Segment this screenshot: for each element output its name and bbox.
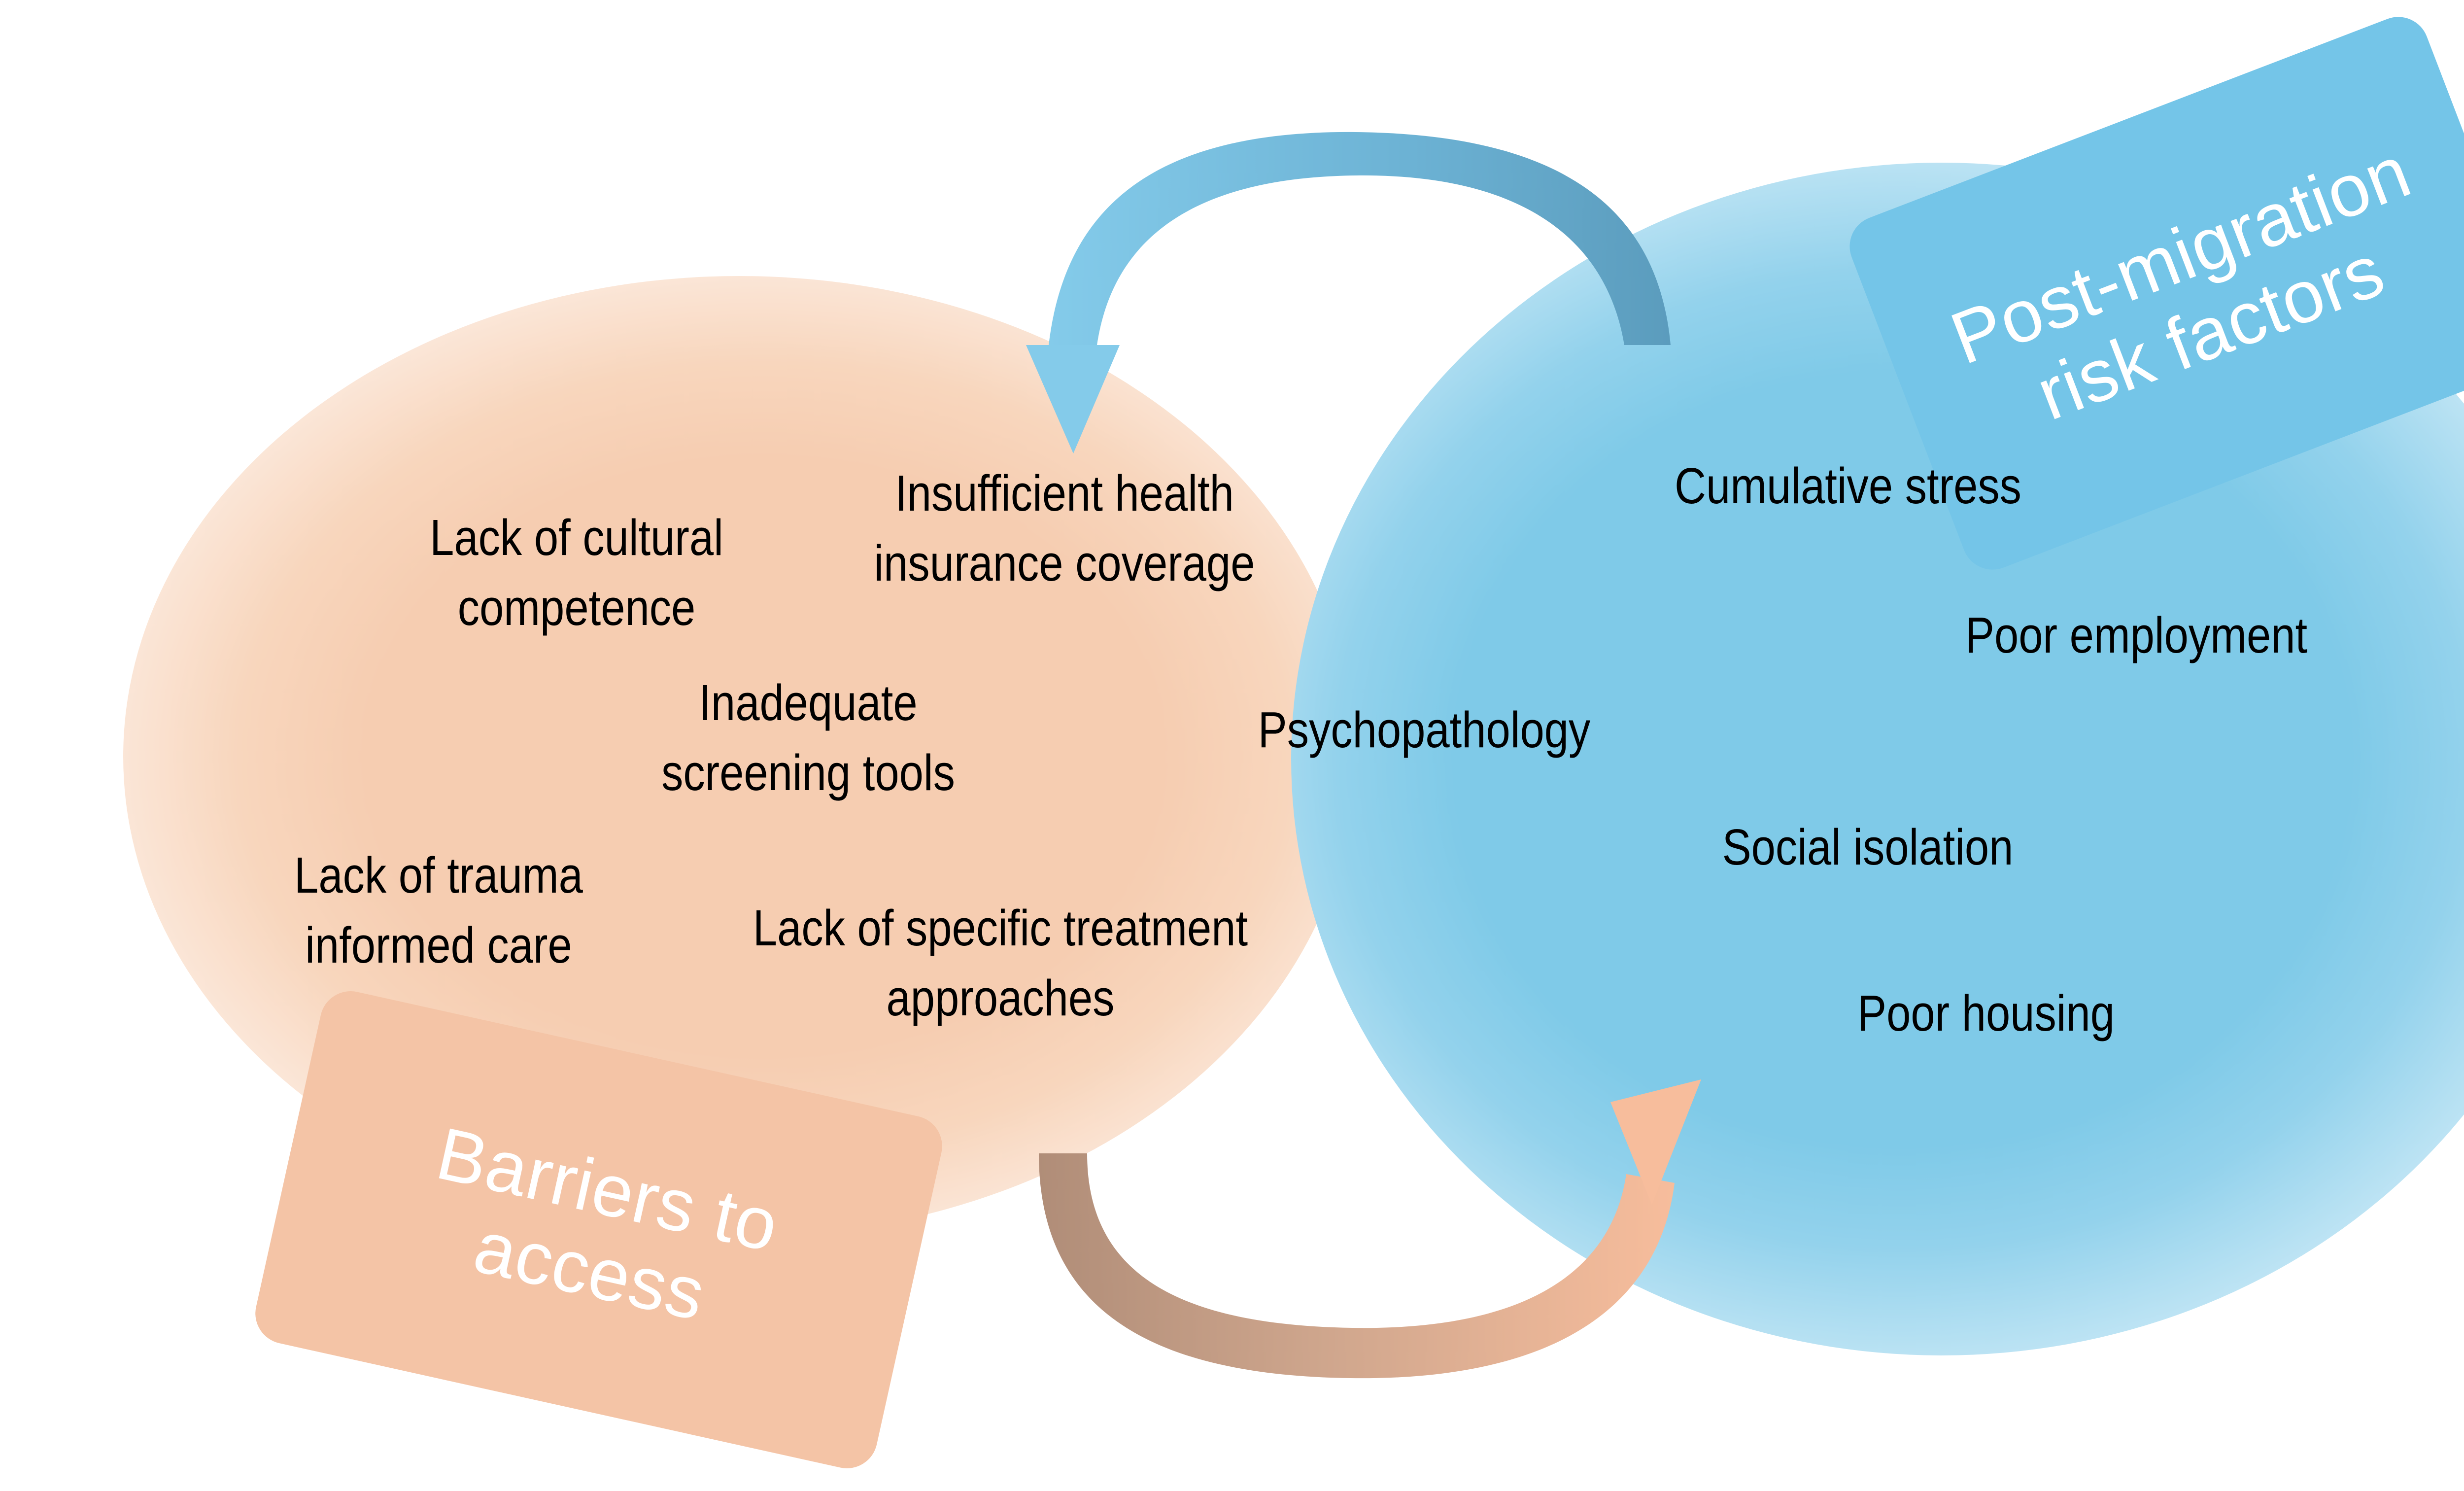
- item-cumulative-stress: Cumulative stress: [1636, 451, 2060, 521]
- item-social-isolation: Social isolation: [1669, 812, 2067, 882]
- item-poor-housing: Poor housing: [1812, 978, 2159, 1048]
- item-psychopathology: Psychopathology: [1225, 695, 1623, 765]
- top-arrow: [1026, 132, 1671, 453]
- item-inadequate-screening-tools: Inadequate screening tools: [596, 668, 1020, 808]
- item-poor-employment: Poor employment: [1918, 600, 2355, 670]
- item-lack-of-trauma-informed-care: Lack of trauma informed care: [252, 840, 625, 980]
- item-lack-of-specific-treatment-approaches: Lack of specific treatment approaches: [720, 893, 1280, 1033]
- item-insufficient-health-insurance-coverage: Insufficient health insurance coverage: [836, 458, 1294, 598]
- bottom-arrow: [1039, 1079, 1701, 1378]
- diagram-canvas: Post-migration risk factors Barriers to …: [0, 0, 2464, 1491]
- item-lack-of-cultural-competence: Lack of cultural competence: [403, 503, 750, 643]
